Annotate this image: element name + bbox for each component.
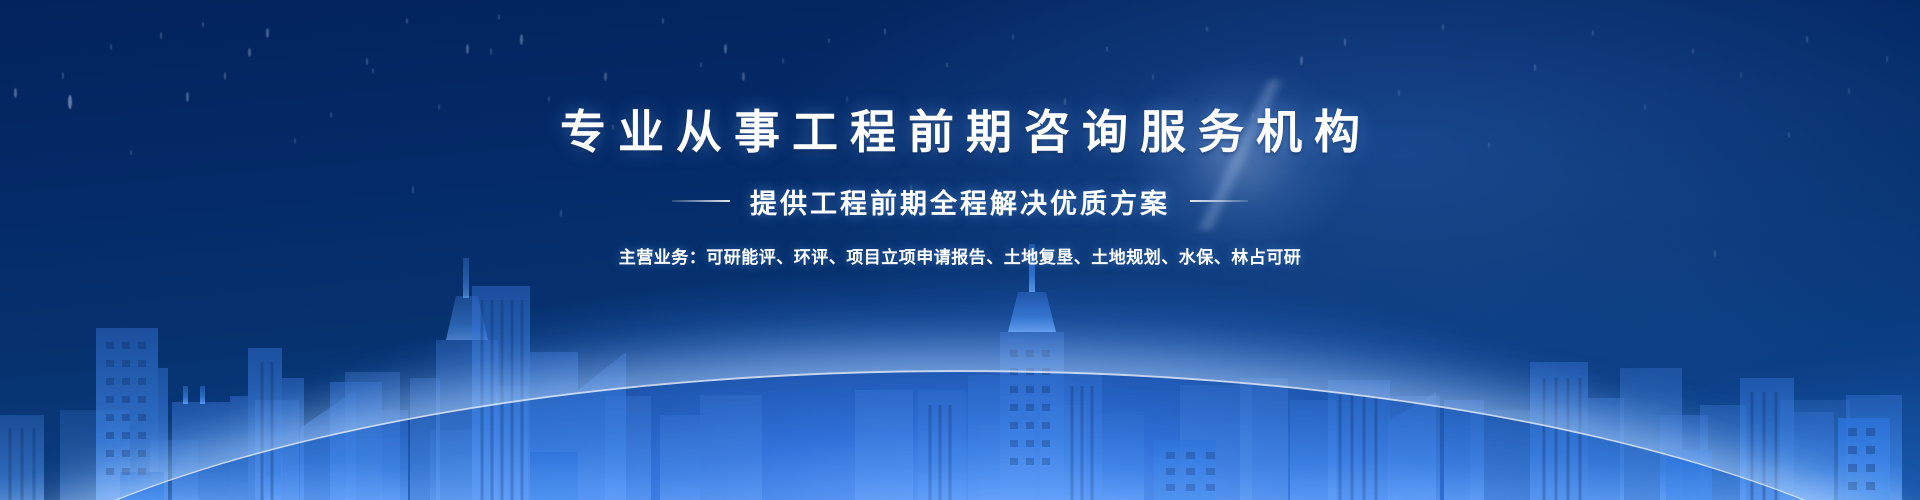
banner-subtitle-row: 提供工程前期全程解决优质方案 (0, 182, 1920, 221)
banner-services-line: 主营业务：可研能评、环评、项目立项申请报告、土地复垦、土地规划、水保、林占可研 (0, 243, 1920, 268)
decorative-rule-left (672, 200, 730, 202)
banner-subtitle: 提供工程前期全程解决优质方案 (750, 182, 1170, 221)
banner-title: 专业从事工程前期咨询服务机构 (0, 108, 1920, 158)
hero-banner: 专业从事工程前期咨询服务机构 提供工程前期全程解决优质方案 主营业务：可研能评、… (0, 0, 1920, 500)
decorative-rule-right (1190, 200, 1248, 202)
banner-content: 专业从事工程前期咨询服务机构 提供工程前期全程解决优质方案 主营业务：可研能评、… (0, 0, 1920, 268)
